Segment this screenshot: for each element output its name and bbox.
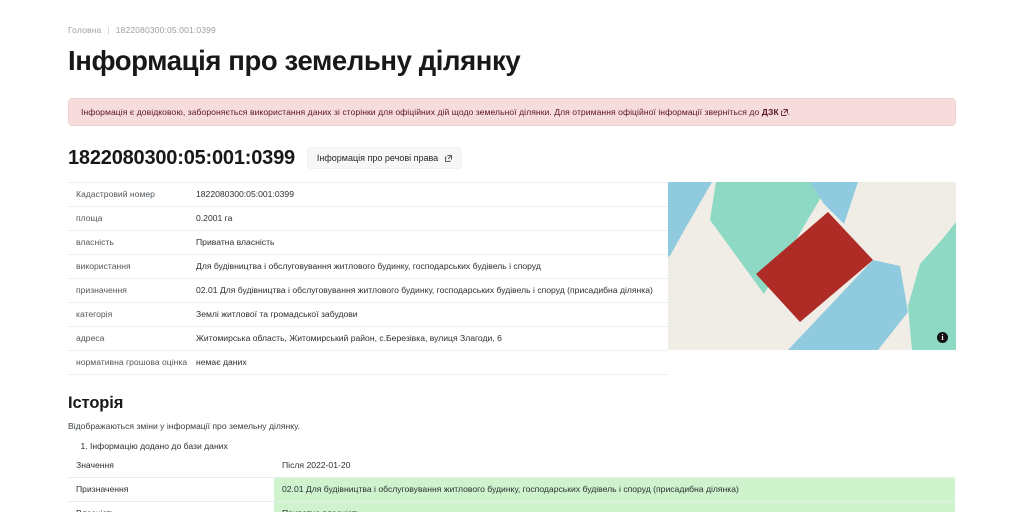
- table-row: власність Приватна власність: [68, 231, 668, 255]
- breadcrumb: Головна | 1822080300:05:001:0399: [68, 24, 956, 36]
- info-label: адреса: [68, 327, 196, 351]
- rights-info-button-label: Інформація про речові права: [317, 152, 438, 164]
- table-row: Власність Приватна власність: [68, 502, 955, 512]
- history-label: Власність: [68, 502, 274, 512]
- history-title: Історія: [68, 393, 956, 413]
- table-row: нормативна грошова оцінка немає даних: [68, 351, 668, 375]
- info-label: призначення: [68, 279, 196, 303]
- info-label: площа: [68, 207, 196, 231]
- map-canvas: [668, 182, 956, 350]
- disclaimer-alert: Інформація є довідковою, забороняється в…: [68, 98, 956, 126]
- history-table: Значення Після 2022-01-20 Призначення 02…: [68, 454, 955, 512]
- external-link-icon: [781, 109, 788, 116]
- table-row: площа 0.2001 га: [68, 207, 668, 231]
- content-container: Головна | 1822080300:05:001:0399 Інформа…: [68, 0, 956, 512]
- info-value: немає даних: [196, 351, 668, 375]
- table-row: Призначення 02.01 Для будівництва і обсл…: [68, 478, 955, 502]
- history-header-value: Після 2022-01-20: [274, 454, 955, 478]
- history-label: Призначення: [68, 478, 274, 502]
- info-value: 0.2001 га: [196, 207, 668, 231]
- disclaimer-text-end: .: [788, 107, 790, 117]
- info-value: Для будівництва і обслуговування житлово…: [196, 255, 668, 279]
- rights-info-button[interactable]: Інформація про речові права: [307, 147, 462, 169]
- info-label: категорія: [68, 303, 196, 327]
- breadcrumb-separator: |: [107, 24, 109, 36]
- breadcrumb-home-link[interactable]: Головна: [68, 24, 101, 36]
- page-title: Інформація про земельну ділянку: [68, 44, 956, 78]
- info-value: 1822080300:05:001:0399: [196, 183, 668, 207]
- parcel-details-row: Кадастровий номер 1822080300:05:001:0399…: [68, 182, 956, 375]
- table-row: Кадастровий номер 1822080300:05:001:0399: [68, 183, 668, 207]
- list-item: Інформацію додано до бази даних: [90, 440, 956, 452]
- table-row: категорія Землі житлової та громадської …: [68, 303, 668, 327]
- breadcrumb-current: 1822080300:05:001:0399: [116, 24, 216, 36]
- dzk-link[interactable]: ДЗК: [762, 107, 779, 117]
- parcel-map[interactable]: i: [668, 182, 956, 350]
- table-row: адреса Житомирська область, Житомирський…: [68, 327, 668, 351]
- info-label: власність: [68, 231, 196, 255]
- table-row: використання Для будівництва і обслугову…: [68, 255, 668, 279]
- parcel-info-table: Кадастровий номер 1822080300:05:001:0399…: [68, 182, 668, 375]
- info-value: Приватна власність: [196, 231, 668, 255]
- disclaimer-text: Інформація є довідковою, забороняється в…: [81, 107, 759, 117]
- info-label: Кадастровий номер: [68, 183, 196, 207]
- external-link-icon: [445, 155, 452, 162]
- table-row: призначення 02.01 Для будівництва і обсл…: [68, 279, 668, 303]
- cadastral-header: 1822080300:05:001:0399 Інформація про ре…: [68, 146, 956, 170]
- history-value: 02.01 Для будівництва і обслуговування ж…: [274, 478, 955, 502]
- history-entry-list: Інформацію додано до бази даних: [68, 440, 956, 452]
- page-root: Головна | 1822080300:05:001:0399 Інформа…: [0, 0, 1024, 512]
- info-label: нормативна грошова оцінка: [68, 351, 196, 375]
- map-info-icon[interactable]: i: [937, 332, 948, 343]
- history-subtitle: Відображаються зміни у інформації про зе…: [68, 420, 956, 432]
- history-value: Приватна власність: [274, 502, 955, 512]
- cadastral-number: 1822080300:05:001:0399: [68, 146, 295, 170]
- info-label: використання: [68, 255, 196, 279]
- history-header-label: Значення: [68, 454, 274, 478]
- info-value: Землі житлової та громадської забудови: [196, 303, 668, 327]
- info-value: 02.01 Для будівництва і обслуговування ж…: [196, 279, 668, 303]
- table-row: Значення Після 2022-01-20: [68, 454, 955, 478]
- info-value: Житомирська область, Житомирський район,…: [196, 327, 668, 351]
